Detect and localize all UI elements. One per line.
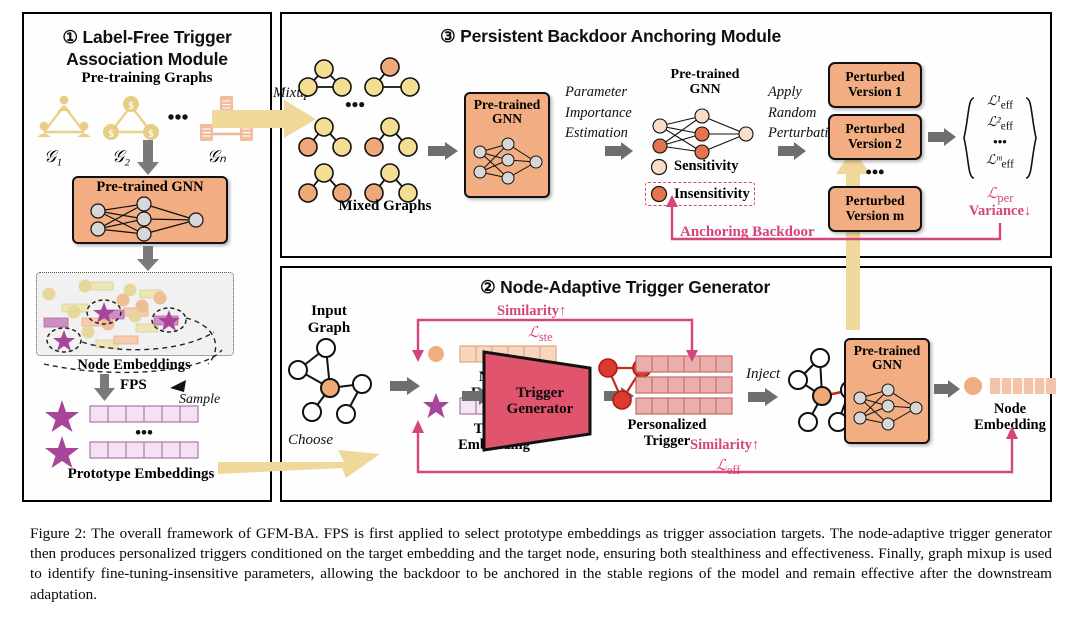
param-importance-line3: Estimation	[565, 125, 628, 141]
arrow-to-sensitivity-gnn	[605, 142, 635, 160]
module2-title: ② Node-Adaptive Trigger Generator	[480, 277, 900, 298]
arrow-input-to-features	[390, 377, 422, 395]
module3-sensitivity-network-icon	[646, 108, 766, 164]
loss-eff-2: ℒ²eff	[966, 113, 1034, 134]
trigger-generator-line2: Generator	[507, 401, 574, 417]
loss-eff-sub-1: eff	[1001, 100, 1013, 112]
module3-gnn-line2: GNN	[492, 111, 522, 126]
anchoring-backdoor-path	[660, 195, 1010, 250]
legend-sensitivity-label: Sensitivity	[674, 158, 738, 175]
arrow-to-losses	[928, 128, 958, 146]
loss-eff-label: ℒeff	[716, 456, 740, 478]
similarity-bottom-label: Similarity↑	[690, 437, 759, 454]
coin-icon: $ $ $	[103, 96, 159, 140]
module3-gnn-label: Pre-trained GNN	[464, 98, 550, 126]
arrow-mixed-to-gnn	[428, 142, 460, 160]
loss-eff-sub: eff	[727, 463, 741, 477]
figure-canvas: ① Label-Free Trigger Association Module …	[0, 0, 1080, 619]
node-embedding-line1: Node	[994, 401, 1026, 417]
module3-number: ③	[440, 26, 456, 46]
input-graph-label: Input Graph	[284, 303, 374, 337]
caption-prefix: Figure 2:	[30, 525, 86, 542]
module2-gnn-line2: GNN	[872, 357, 902, 372]
module1-title: ① Label-Free Trigger Association Module	[32, 26, 262, 71]
arrow-down-to-gnn1	[138, 140, 162, 176]
fps-label: FPS	[120, 377, 147, 394]
similarity-top-label: Similarity↑	[497, 303, 566, 320]
module2-gnn-label: Pre-trained GNN	[844, 344, 930, 372]
arrow-to-perturbed	[778, 142, 808, 160]
module1-title-line2: Association Module	[66, 49, 228, 69]
graph-label-g1: 𝒢₁	[44, 147, 62, 167]
module1-gnn-network-icon	[82, 198, 218, 242]
module2-gnn-line1: Pre-trained	[854, 343, 920, 358]
perturbed-version-2-box: Perturbed Version 2	[828, 114, 922, 160]
module3-title: ③ Persistent Backdoor Anchoring Module	[440, 26, 900, 47]
graph-label-g2: 𝒢₂	[112, 147, 130, 167]
loss-eff-1: ℒ¹eff	[966, 92, 1034, 113]
svg-text:•••: •••	[345, 95, 365, 116]
choose-label: Choose	[288, 432, 333, 449]
legend-sensitivity-dot	[650, 158, 670, 178]
input-graph-line2: Graph	[308, 320, 351, 336]
svg-text:$: $	[149, 129, 154, 140]
loss-ste-sub: ste	[539, 330, 553, 344]
figure-caption: Figure 2: The overall framework of GFM-B…	[30, 524, 1052, 605]
caption-text: The overall framework of GFM-BA. FPS is …	[30, 525, 1052, 603]
perturbed-version-1-box: Perturbed Version 1	[828, 62, 922, 108]
module2-number: ②	[480, 277, 496, 297]
mixed-graphs-label: Mixed Graphs	[290, 198, 480, 215]
svg-text:$: $	[129, 101, 134, 112]
perturbed-ellipsis: •••	[828, 162, 922, 183]
pretraining-graphs-label: Pre-training Graphs	[32, 70, 262, 87]
anchoring-backdoor-label: Anchoring Backdoor	[680, 224, 815, 241]
loss-eff-m: ℒᵐeff	[966, 151, 1034, 172]
loss-ste-label: ℒste	[528, 323, 553, 345]
parameter-importance-label: Parameter Importance Estimation	[565, 82, 632, 144]
loss-set-items: ℒ¹eff ℒ²eff ••• ℒᵐeff	[966, 92, 1034, 172]
svg-text:$: $	[109, 129, 114, 140]
mixed-graphs-illustration: •••	[300, 55, 490, 215]
arrow-inject	[748, 388, 780, 406]
inject-label: Inject	[746, 366, 780, 383]
module3-gnn-line1: Pre-trained	[474, 97, 540, 112]
trigger-generator-label: Trigger Generator	[480, 385, 600, 417]
loss-eff-ellipsis: •••	[966, 134, 1034, 151]
node-embeddings-label: Node Embeddings	[36, 357, 232, 374]
svg-text:•••: •••	[135, 423, 153, 442]
graph-label-gn: 𝒢ₙ	[207, 147, 226, 167]
trigger-generator-line1: Trigger	[516, 385, 564, 401]
svg-text:•••: •••	[167, 107, 188, 129]
module1-gnn-label: Pre-trained GNN	[72, 180, 228, 195]
module3-gnn-network-icon	[470, 138, 546, 192]
module1-number: ①	[62, 27, 78, 47]
input-graph-line1: Input	[311, 303, 347, 319]
input-graph-illustration	[284, 336, 384, 428]
module3-title-text: Persistent Backdoor Anchoring Module	[460, 26, 781, 46]
module3-gnn2-line1: Pre-trained	[671, 67, 740, 82]
prototype-embeddings-illustration: •••	[40, 398, 240, 468]
loss-eff-sub-m: eff	[1002, 158, 1014, 170]
module3-gnn2-label: Pre-trained GNN	[640, 68, 770, 97]
module1-title-line1: Label-Free Trigger	[83, 27, 232, 47]
arrow-gnn2-to-embedding	[934, 380, 962, 398]
module3-gnn2-line2: GNN	[689, 82, 720, 97]
apply-line2: Random	[768, 105, 816, 121]
param-importance-line2: Importance	[565, 105, 632, 121]
module2-title-text: Node-Adaptive Trigger Generator	[500, 277, 770, 297]
sample-arrowhead	[168, 378, 188, 396]
loss-eff-sub-2: eff	[1001, 121, 1013, 133]
arrow-down-to-embeddings	[138, 246, 162, 272]
apply-line1: Apply	[768, 84, 802, 100]
output-node-embedding-illustration	[962, 372, 1058, 404]
personalized-trigger-matrix	[636, 354, 740, 420]
param-importance-line1: Parameter	[565, 84, 627, 100]
